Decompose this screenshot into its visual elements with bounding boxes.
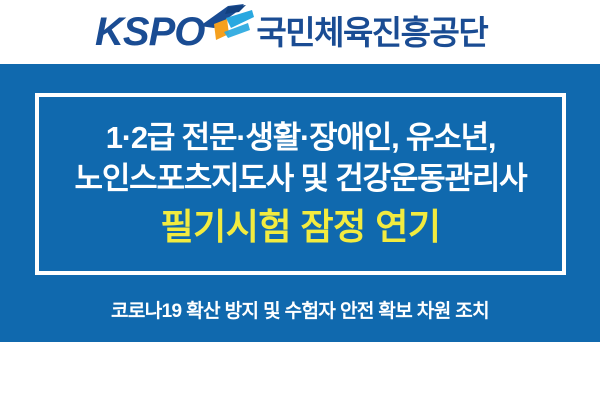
notice-frame: 1·2급 전문·생활·장애인, 유소년, 노인스포츠지도사 및 건강운동관리사 …	[35, 93, 566, 275]
footer-whitespace	[0, 342, 600, 408]
notice-subtitle: 코로나19 확산 방지 및 수험자 안전 확보 차원 조치	[0, 296, 600, 323]
notice-highlight-text: 필기시험 잠정 연기	[161, 204, 441, 251]
announcement-body: 1·2급 전문·생활·장애인, 유소년, 노인스포츠지도사 및 건강운동관리사 …	[0, 64, 600, 342]
notice-line-2: 노인스포츠지도사 및 건강운동관리사	[75, 159, 527, 200]
banner-header: KSPO 국민체육진흥공단	[0, 0, 600, 64]
kspo-wordmark: KSPO	[95, 12, 204, 52]
kspo-emblem-icon	[198, 4, 254, 50]
organization-name: 국민체육진흥공단	[256, 16, 487, 49]
notice-line-1: 1·2급 전문·생활·장애인, 유소년,	[106, 118, 496, 159]
announcement-banner: KSPO 국민체육진흥공단 1·2급 전문·생활·장애인, 유소년, 노인스포	[0, 0, 600, 408]
kspo-logo: KSPO 국민체육진흥공단	[95, 8, 487, 56]
